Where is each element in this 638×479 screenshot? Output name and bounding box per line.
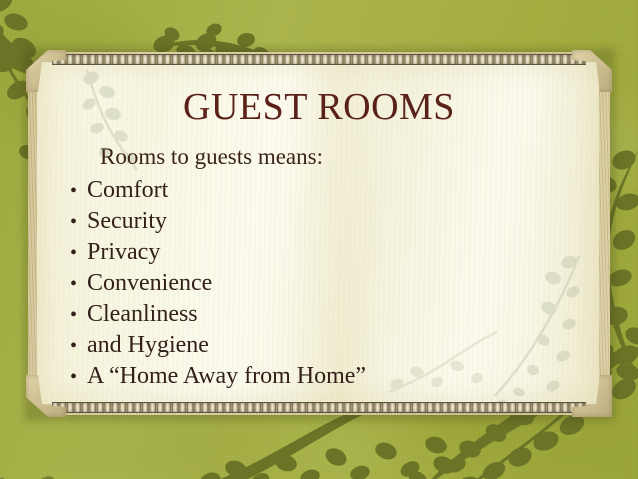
bullet-dot-icon: •: [70, 238, 87, 268]
bullet-label: Convenience: [87, 268, 212, 298]
bullet-label: Security: [87, 206, 167, 236]
bullet-dot-icon: •: [70, 207, 87, 237]
intro-text: Rooms to guests means:: [100, 145, 323, 168]
bullet-item-hygiene: • and Hygiene: [70, 330, 366, 361]
bullet-item-comfort: • Comfort: [70, 175, 366, 206]
bullet-item-cleanliness: • Cleanliness: [70, 299, 366, 330]
slide-content: GUEST ROOMS Rooms to guests means: • Com…: [28, 52, 610, 415]
bullet-item-privacy: • Privacy: [70, 237, 366, 268]
bullet-dot-icon: •: [70, 331, 87, 361]
bullet-list: • Comfort • Security • Privacy • Conveni…: [70, 175, 366, 392]
slide-title: GUEST ROOMS: [28, 88, 610, 126]
bullet-label: Privacy: [87, 237, 160, 267]
content-panel: GUEST ROOMS Rooms to guests means: • Com…: [28, 52, 610, 415]
bullet-dot-icon: •: [70, 362, 87, 392]
bullet-item-convenience: • Convenience: [70, 268, 366, 299]
bullet-item-security: • Security: [70, 206, 366, 237]
bullet-label: A “Home Away from Home”: [87, 361, 366, 391]
bullet-label: Cleanliness: [87, 299, 198, 329]
bullet-dot-icon: •: [70, 269, 87, 299]
bullet-item-home-away-from-home: • A “Home Away from Home”: [70, 361, 366, 392]
bullet-dot-icon: •: [70, 300, 87, 330]
presentation-slide: GUEST ROOMS Rooms to guests means: • Com…: [0, 0, 638, 479]
bullet-dot-icon: •: [70, 176, 87, 206]
bullet-label: Comfort: [87, 175, 168, 205]
bullet-label: and Hygiene: [87, 330, 209, 360]
